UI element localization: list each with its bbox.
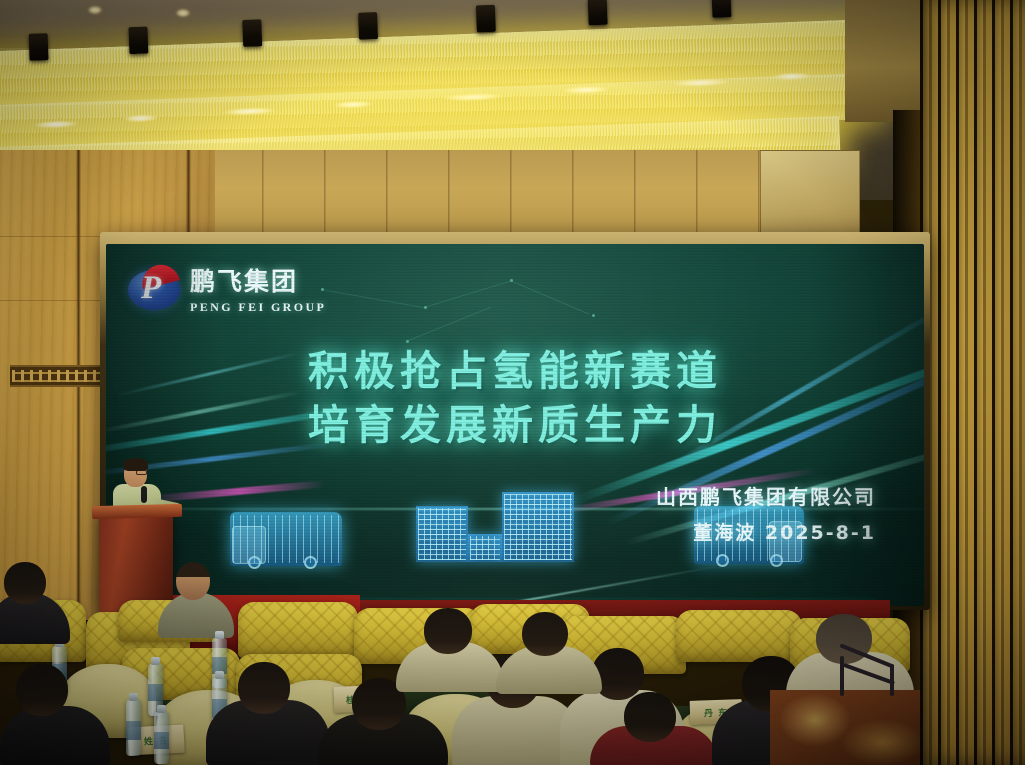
logo-text-column: 鹏飞集团 PENG FEI GROUP [190, 262, 326, 315]
byline-presenter-date: 董海波 2025-8-1 [656, 518, 876, 545]
bottle-cap [157, 705, 166, 713]
stage-spotlight-icon [128, 27, 148, 55]
audience-member-head [624, 692, 676, 742]
network-link [321, 289, 426, 308]
stage-spotlight-icon [476, 5, 496, 33]
rail-post [840, 656, 844, 696]
stage-spotlight-icon [358, 12, 378, 40]
network-link [510, 280, 590, 315]
logo-english-name: PENG FEI GROUP [190, 300, 326, 315]
byline-company: 山西鹏飞集团有限公司 [656, 481, 876, 510]
company-logo-lockup: P 鹏飞集团 PENG FEI GROUP [128, 262, 326, 315]
conference-hall-photo: P 鹏飞集团 PENG FEI GROUP 积极抢占氢能新赛道 培育发展新质生产… [0, 0, 1025, 765]
bottle-cap [151, 657, 160, 665]
wireframe-truck-left-icon [230, 512, 342, 566]
truck-wheel [304, 556, 317, 569]
network-link [424, 281, 510, 308]
bottle-label [126, 721, 141, 740]
audience-member-head [4, 562, 46, 604]
stage-stair-rail [838, 648, 900, 696]
wireframe-building-tall-icon [502, 492, 574, 562]
stage-spotlight-icon [29, 33, 49, 61]
truck-wheel [770, 554, 783, 567]
water-bottle [154, 712, 169, 764]
rail-post [890, 664, 894, 696]
network-dot [592, 314, 595, 317]
led-screen-surface: P 鹏飞集团 PENG FEI GROUP 积极抢占氢能新赛道 培育发展新质生产… [106, 244, 924, 606]
pillar-capital [845, 0, 925, 122]
audience-member-head [424, 608, 472, 654]
stage-spotlight-icon [242, 19, 262, 47]
pengfei-logo-icon: P [128, 265, 180, 312]
podium-top-surface [92, 504, 182, 519]
gold-pillar-slats [920, 0, 1025, 765]
bottle-cap [215, 671, 224, 679]
chinese-lattice-icon [10, 365, 110, 387]
truck-wheel [248, 556, 261, 569]
light-streak-magenta [146, 480, 326, 503]
patterned-carpet [770, 690, 920, 765]
audience-member-head [238, 662, 290, 714]
audience-member [0, 706, 110, 765]
headline-line-1: 积极抢占氢能新赛道 [106, 344, 924, 398]
gold-chair [676, 610, 802, 662]
led-screen: P 鹏飞集团 PENG FEI GROUP 积极抢占氢能新赛道 培育发展新质生产… [100, 232, 930, 610]
wireframe-building-left-icon [416, 506, 468, 562]
logo-letter-p: P [141, 272, 161, 305]
truck-cab [232, 526, 266, 564]
headline-line-2: 培育发展新质生产力 [106, 398, 924, 452]
stage-spotlight-icon [712, 0, 732, 18]
bottle-cap [215, 631, 224, 639]
wireframe-building-link-icon [468, 534, 502, 562]
water-bottle [126, 700, 141, 756]
audience-member-head [522, 612, 568, 656]
slide-byline: 山西鹏飞集团有限公司 董海波 2025-8-1 [656, 481, 876, 545]
audience-member-head [16, 664, 68, 716]
bottle-cap [129, 693, 138, 701]
audience-member-head [176, 562, 210, 600]
gold-chair [238, 602, 358, 658]
handheld-microphone-icon [141, 486, 147, 503]
bottle-label [154, 732, 169, 750]
slide-headline: 积极抢占氢能新赛道 培育发展新质生产力 [106, 344, 924, 452]
speaker-glasses-icon [136, 470, 147, 475]
network-link [406, 307, 492, 342]
truck-wheel [716, 554, 729, 567]
bottle-label [148, 684, 163, 702]
stage-spotlight-icon [588, 0, 608, 25]
logo-chinese-name: 鹏飞集团 [190, 262, 326, 298]
